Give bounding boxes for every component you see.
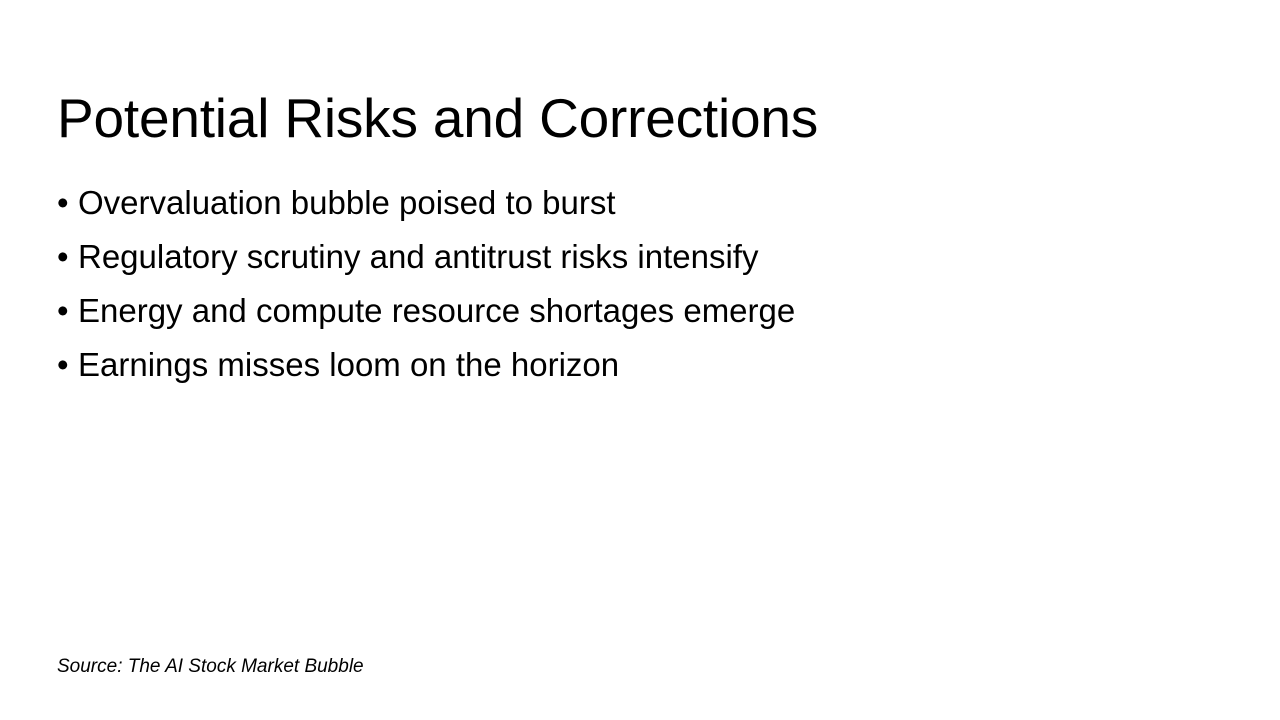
source-citation: Source: The AI Stock Market Bubble — [57, 656, 364, 679]
page-title: Potential Risks and Corrections — [57, 89, 1157, 148]
bullet-point-icon: • — [57, 184, 78, 223]
bullet-point-icon: • — [57, 292, 78, 331]
list-item: • Earnings misses loom on the horizon — [57, 346, 1177, 400]
list-item-label: Regulatory scrutiny and antitrust risks … — [78, 238, 758, 277]
list-item: • Regulatory scrutiny and antitrust risk… — [57, 238, 1177, 292]
list-item-label: Energy and compute resource shortages em… — [78, 292, 795, 331]
list-item-label: Earnings misses loom on the horizon — [78, 346, 619, 385]
bullet-point-icon: • — [57, 346, 78, 385]
list-item: • Energy and compute resource shortages … — [57, 292, 1177, 346]
slide-canvas: Potential Risks and Corrections • Overva… — [0, 0, 1280, 720]
bullet-list: • Overvaluation bubble poised to burst •… — [57, 184, 1177, 400]
list-item: • Overvaluation bubble poised to burst — [57, 184, 1177, 238]
bullet-point-icon: • — [57, 238, 78, 277]
list-item-label: Overvaluation bubble poised to burst — [78, 184, 616, 223]
